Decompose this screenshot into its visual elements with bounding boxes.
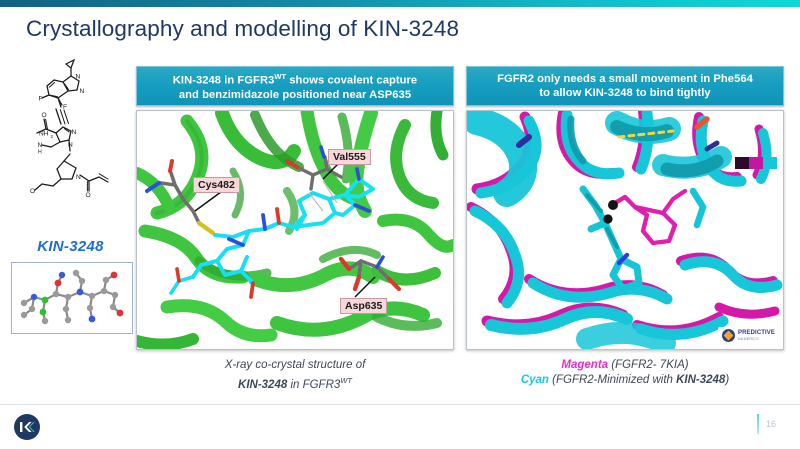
svg-text:F: F [39, 96, 43, 103]
panel-right-image: PREDICTIVE NUMERICS [466, 110, 784, 350]
panel-right-header-text: FGFR2 only needs a small movement in Phe… [497, 72, 753, 100]
svg-text:N: N [38, 142, 43, 149]
svg-text:N: N [76, 74, 81, 81]
fgfr3-structure-render [137, 111, 453, 349]
footer-divider [0, 404, 800, 405]
panel-fgfr2-model: FGFR2 only needs a small movement in Phe… [466, 66, 784, 350]
caption-left: X-ray co-crystal structure of KIN-3248 i… [136, 358, 454, 393]
panel-left-image: Cys482 Val555 Asp635 [136, 110, 454, 350]
svg-text:O: O [86, 192, 91, 199]
compound-3d-model [12, 263, 132, 333]
watermark-badge-icon [722, 329, 735, 342]
compound-column: N N F F NH 2 O N H N N N O O KIN-3248 [8, 55, 133, 345]
residue-label-val555: Val555 [328, 149, 371, 165]
caption-left-line1: X-ray co-crystal structure of [225, 359, 366, 371]
svg-text:H: H [38, 150, 42, 156]
panel-left-header-text: KIN-3248 in FGFR3WT shows covalent captu… [173, 70, 417, 102]
compound-3d-model-box [11, 262, 133, 334]
legend-magenta-label: Magenta [561, 359, 608, 371]
legend-cyan-label: Cyan [521, 374, 549, 386]
page-number-divider [757, 414, 759, 434]
compound-2d-structure: N N F F NH 2 O N H N N N O O [8, 55, 133, 235]
svg-text:N: N [80, 88, 85, 95]
caption-left-compound: KIN-3248 [238, 379, 287, 391]
svg-text:N: N [68, 142, 73, 149]
panel-fgfr3-crystal: KIN-3248 in FGFR3WT shows covalent captu… [136, 66, 454, 350]
compound-name-label: KIN-3248 [8, 238, 133, 255]
svg-text:N: N [76, 174, 81, 181]
caption-right: Magenta (FGFR2- 7KIA) Cyan (FGFR2-Minimi… [466, 358, 784, 388]
svg-text:O: O [42, 112, 47, 119]
top-accent-bar [0, 0, 800, 7]
caption-left-wt: WT [340, 376, 352, 385]
panel-left-header: KIN-3248 in FGFR3WT shows covalent captu… [136, 66, 454, 106]
svg-text:N: N [72, 129, 77, 136]
legend-cyan-detail-post: ) [725, 374, 729, 386]
page-number: 16 [766, 419, 776, 429]
page-title: Crystallography and modelling of KIN-324… [26, 16, 459, 42]
fgfr2-overlay-render [467, 111, 783, 349]
legend-cyan-detail-pre: (FGFR2-Minimized with [549, 374, 676, 386]
svg-text:2: 2 [51, 134, 54, 139]
slide: Crystallography and modelling of KIN-324… [0, 0, 800, 449]
kinnate-logo [14, 414, 40, 440]
svg-text:O: O [30, 188, 35, 195]
panel-right-header: FGFR2 only needs a small movement in Phe… [466, 66, 784, 106]
watermark-text: PREDICTIVE NUMERICS [738, 330, 775, 342]
svg-text:F: F [63, 104, 67, 111]
svg-text:NH: NH [39, 131, 49, 138]
legend-cyan-compound: KIN-3248 [676, 374, 725, 386]
k-logo-icon [19, 420, 35, 434]
residue-label-cys482: Cys482 [193, 177, 240, 193]
predictive-numerics-watermark: PREDICTIVE NUMERICS [718, 327, 779, 344]
legend-magenta-detail: (FGFR2- 7KIA) [608, 359, 689, 371]
caption-left-line2-rest: in FGFR3 [287, 379, 340, 391]
residue-label-asp635: Asp635 [340, 298, 387, 314]
